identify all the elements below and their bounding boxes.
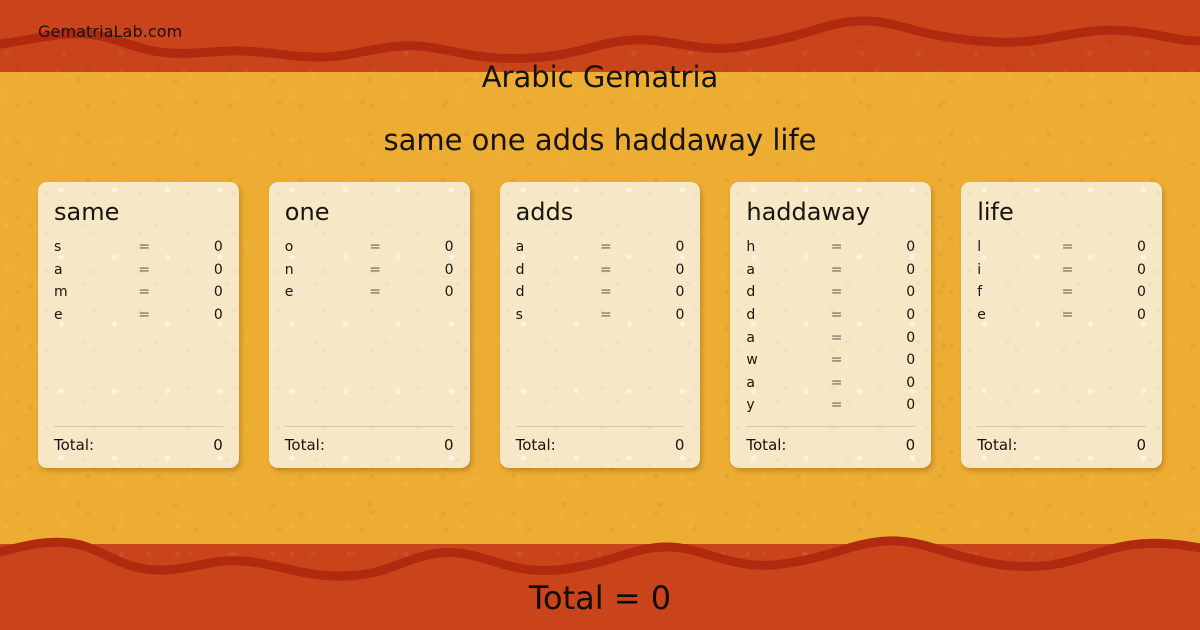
letter-glyph: a xyxy=(516,239,600,255)
letter-value: 0 xyxy=(873,352,915,368)
word-card: lifel=0i=0f=0e=0Total:0 xyxy=(961,182,1162,468)
card-total-label: Total: xyxy=(285,436,325,454)
letter-row: a=0 xyxy=(746,262,915,285)
letter-row: a=0 xyxy=(746,330,915,353)
equals-sign: = xyxy=(138,239,180,255)
equals-sign: = xyxy=(1062,284,1104,300)
equals-sign: = xyxy=(600,262,642,278)
equals-sign: = xyxy=(831,330,873,346)
equals-sign: = xyxy=(600,307,642,323)
letter-row: w=0 xyxy=(746,352,915,375)
card-total-label: Total: xyxy=(746,436,786,454)
letter-row: e=0 xyxy=(54,307,223,330)
letter-value: 0 xyxy=(411,284,453,300)
letter-row: a=0 xyxy=(54,262,223,285)
grand-total: Total = 0 xyxy=(0,579,1200,617)
letter-glyph: l xyxy=(977,239,1061,255)
letter-glyph: a xyxy=(746,262,830,278)
letter-glyph: a xyxy=(746,375,830,391)
letter-value: 0 xyxy=(181,284,223,300)
equals-sign: = xyxy=(1062,262,1104,278)
equals-sign: = xyxy=(831,284,873,300)
letter-glyph: o xyxy=(285,239,369,255)
letter-row: f=0 xyxy=(977,284,1146,307)
card-total-row: Total:0 xyxy=(746,436,915,454)
letter-rows: o=0n=0e=0 xyxy=(285,239,454,426)
letter-row: d=0 xyxy=(746,284,915,307)
equals-sign: = xyxy=(831,352,873,368)
letter-rows: a=0d=0d=0s=0 xyxy=(516,239,685,426)
letter-glyph: i xyxy=(977,262,1061,278)
card-divider xyxy=(285,426,454,427)
card-divider xyxy=(516,426,685,427)
equals-sign: = xyxy=(600,284,642,300)
letter-glyph: h xyxy=(746,239,830,255)
equals-sign: = xyxy=(831,239,873,255)
equals-sign: = xyxy=(138,284,180,300)
letter-value: 0 xyxy=(873,262,915,278)
letter-glyph: d xyxy=(516,262,600,278)
page-title: Arabic Gematria xyxy=(0,60,1200,94)
letter-row: a=0 xyxy=(516,239,685,262)
card-word-title: adds xyxy=(516,200,685,225)
equals-sign: = xyxy=(369,262,411,278)
letter-glyph: s xyxy=(516,307,600,323)
letter-value: 0 xyxy=(873,239,915,255)
letter-value: 0 xyxy=(873,284,915,300)
letter-value: 0 xyxy=(1104,239,1146,255)
letter-glyph: a xyxy=(746,330,830,346)
letter-row: m=0 xyxy=(54,284,223,307)
site-logo[interactable]: GematriaLab.com xyxy=(38,22,182,41)
word-card: addsa=0d=0d=0s=0Total:0 xyxy=(500,182,701,468)
card-total-row: Total:0 xyxy=(285,436,454,454)
letter-row: l=0 xyxy=(977,239,1146,262)
letter-value: 0 xyxy=(411,239,453,255)
card-total-value: 0 xyxy=(213,436,223,454)
letter-row: h=0 xyxy=(746,239,915,262)
letter-value: 0 xyxy=(873,375,915,391)
letter-glyph: d xyxy=(746,307,830,323)
letter-glyph: d xyxy=(516,284,600,300)
card-divider xyxy=(977,426,1146,427)
letter-glyph: n xyxy=(285,262,369,278)
card-total-label: Total: xyxy=(516,436,556,454)
letter-value: 0 xyxy=(411,262,453,278)
card-total-value: 0 xyxy=(906,436,916,454)
letter-value: 0 xyxy=(1104,262,1146,278)
equals-sign: = xyxy=(138,307,180,323)
letter-row: e=0 xyxy=(285,284,454,307)
equals-sign: = xyxy=(831,307,873,323)
letter-value: 0 xyxy=(181,262,223,278)
letter-row: d=0 xyxy=(516,262,685,285)
letter-rows: s=0a=0m=0e=0 xyxy=(54,239,223,426)
letter-row: a=0 xyxy=(746,375,915,398)
letter-row: n=0 xyxy=(285,262,454,285)
equals-sign: = xyxy=(831,375,873,391)
letter-value: 0 xyxy=(873,397,915,413)
letter-glyph: e xyxy=(54,307,138,323)
equals-sign: = xyxy=(831,262,873,278)
letter-row: s=0 xyxy=(54,239,223,262)
card-divider xyxy=(54,426,223,427)
letter-rows: h=0a=0d=0d=0a=0w=0a=0y=0 xyxy=(746,239,915,426)
card-word-title: haddaway xyxy=(746,200,915,225)
card-word-title: one xyxy=(285,200,454,225)
letter-value: 0 xyxy=(873,307,915,323)
letter-glyph: e xyxy=(977,307,1061,323)
equals-sign: = xyxy=(138,262,180,278)
letter-row: o=0 xyxy=(285,239,454,262)
letter-glyph: y xyxy=(746,397,830,413)
card-total-value: 0 xyxy=(444,436,454,454)
letter-value: 0 xyxy=(642,307,684,323)
letter-row: d=0 xyxy=(516,284,685,307)
equals-sign: = xyxy=(1062,307,1104,323)
letter-glyph: m xyxy=(54,284,138,300)
card-total-value: 0 xyxy=(1136,436,1146,454)
card-total-label: Total: xyxy=(54,436,94,454)
card-total-row: Total:0 xyxy=(54,436,223,454)
letter-glyph: f xyxy=(977,284,1061,300)
letter-rows: l=0i=0f=0e=0 xyxy=(977,239,1146,426)
letter-value: 0 xyxy=(181,307,223,323)
card-word-title: life xyxy=(977,200,1146,225)
letter-row: d=0 xyxy=(746,307,915,330)
card-total-row: Total:0 xyxy=(977,436,1146,454)
word-card: oneo=0n=0e=0Total:0 xyxy=(269,182,470,468)
word-card: haddawayh=0a=0d=0d=0a=0w=0a=0y=0Total:0 xyxy=(730,182,931,468)
letter-glyph: d xyxy=(746,284,830,300)
card-total-value: 0 xyxy=(675,436,685,454)
equals-sign: = xyxy=(369,239,411,255)
letter-value: 0 xyxy=(873,330,915,346)
letter-row: s=0 xyxy=(516,307,685,330)
letter-value: 0 xyxy=(1104,284,1146,300)
equals-sign: = xyxy=(831,397,873,413)
word-cards-row: sames=0a=0m=0e=0Total:0oneo=0n=0e=0Total… xyxy=(38,182,1162,472)
letter-value: 0 xyxy=(642,262,684,278)
phrase-subtitle: same one adds haddaway life xyxy=(0,123,1200,157)
letter-value: 0 xyxy=(1104,307,1146,323)
card-total-label: Total: xyxy=(977,436,1017,454)
card-word-title: same xyxy=(54,200,223,225)
equals-sign: = xyxy=(369,284,411,300)
equals-sign: = xyxy=(1062,239,1104,255)
letter-value: 0 xyxy=(642,239,684,255)
letter-row: i=0 xyxy=(977,262,1146,285)
letter-glyph: a xyxy=(54,262,138,278)
letter-row: e=0 xyxy=(977,307,1146,330)
letter-value: 0 xyxy=(181,239,223,255)
letter-value: 0 xyxy=(642,284,684,300)
letter-glyph: s xyxy=(54,239,138,255)
card-total-row: Total:0 xyxy=(516,436,685,454)
card-divider xyxy=(746,426,915,427)
letter-row: y=0 xyxy=(746,397,915,420)
equals-sign: = xyxy=(600,239,642,255)
letter-glyph: e xyxy=(285,284,369,300)
word-card: sames=0a=0m=0e=0Total:0 xyxy=(38,182,239,468)
letter-glyph: w xyxy=(746,352,830,368)
